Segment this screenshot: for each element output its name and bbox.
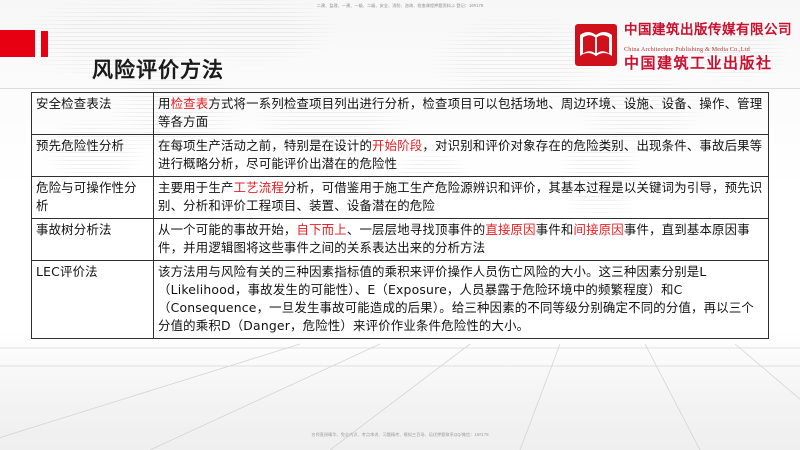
publisher-logo: 中国建筑出版传媒有限公司 China Architecture Publishi…	[574, 22, 792, 72]
highlighted-term: 检查表	[171, 96, 209, 111]
table-row: 安全检查表法用检查表方式将一系列检查项目列出进行分析，检查项目可以包括场地、周边…	[32, 93, 769, 135]
description-text: 从一个可能的事故开始，	[158, 222, 297, 237]
method-name-cell: 预先危险性分析	[32, 134, 154, 176]
red-block-large	[0, 30, 35, 57]
description-text: 方式将一系列检查项目列出进行分析，检查项目可以包括场地、周边环境、设施、设备、操…	[158, 96, 762, 129]
highlighted-term: 自下而上	[297, 222, 347, 237]
highlighted-term: 工艺流程	[234, 180, 284, 195]
table-body: 安全检查表法用检查表方式将一系列检查项目列出进行分析，检查项目可以包括场地、周边…	[32, 93, 769, 339]
method-description-cell: 该方法用与风险有关的三种因素指标值的乘积来评价操作人员伤亡风险的大小。这三种因素…	[154, 260, 769, 338]
book-emblem-icon	[574, 23, 618, 72]
method-description-cell: 用检查表方式将一系列检查项目列出进行分析，检查项目可以包括场地、周边环境、设施、…	[154, 93, 769, 135]
highlighted-term: 间接原因	[574, 222, 624, 237]
slide-canvas: 二建、监理、一建、一级、二级、安全、消防、咨询、检查课程押题资料ふ 登记：16#…	[0, 0, 800, 450]
method-description-cell: 从一个可能的事故开始，自下而上、一层层地寻找顶事件的直接原因事件和间接原因事件，…	[154, 218, 769, 260]
header-watermark-text: 二建、监理、一建、一级、二级、安全、消防、咨询、检查课程押题资料ふ 登记：16#…	[0, 3, 800, 9]
highlighted-term: 开始阶段	[372, 138, 422, 153]
description-text: 该方法用与风险有关的三种因素指标值的乘积来评价操作人员伤亡风险的大小。这三种因素…	[158, 264, 754, 333]
description-text: 、一层层地寻找顶事件的	[347, 222, 486, 237]
company-name-cn: 中国建筑出版传媒有限公司	[624, 22, 792, 38]
description-text: 主要用于生产	[158, 180, 234, 195]
press-name-cn: 中国建筑工业出版社	[624, 54, 773, 72]
company-name-en: China Architecture Publishing & Media Co…	[624, 46, 750, 53]
method-name-cell: LEC评价法	[32, 260, 154, 338]
highlighted-term: 直接原因	[485, 222, 535, 237]
method-description-cell: 在每项生产活动之前，特别是在设计的开始阶段，对识别和评价对象存在的危险类别、出现…	[154, 134, 769, 176]
description-text: 事件和	[536, 222, 574, 237]
red-block-bar	[41, 31, 48, 57]
table-row: 事故树分析法从一个可能的事故开始，自下而上、一层层地寻找顶事件的直接原因事件和间…	[32, 218, 769, 260]
logo-text-group: 中国建筑出版传媒有限公司 China Architecture Publishi…	[624, 22, 792, 72]
table-row: 预先危险性分析在每项生产活动之前，特别是在设计的开始阶段，对识别和评价对象存在的…	[32, 134, 769, 176]
table-row: LEC评价法该方法用与风险有关的三种因素指标值的乘积来评价操作人员伤亡风险的大小…	[32, 260, 769, 338]
risk-methods-table-wrap: 安全检查表法用检查表方式将一系列检查项目列出进行分析，检查项目可以包括场地、周边…	[31, 92, 769, 339]
risk-methods-table: 安全检查表法用检查表方式将一系列检查项目列出进行分析，检查项目可以包括场地、周边…	[31, 92, 769, 339]
table-row: 危险与可操作性分析主要用于生产工艺流程分析，可借鉴用于施工生产危险源辨识和评价，…	[32, 176, 769, 218]
description-text: 在每项生产活动之前，特别是在设计的	[158, 138, 372, 153]
method-name-cell: 危险与可操作性分析	[32, 176, 154, 218]
method-description-cell: 主要用于生产工艺流程分析，可借鉴用于施工生产危险源辨识和评价，其基本过程是以关键…	[154, 176, 769, 218]
method-name-cell: 安全检查表法	[32, 93, 154, 135]
description-text: 用	[158, 96, 171, 111]
page-title: 风险评价方法	[92, 54, 224, 84]
footer-watermark-text: 名师直授精华、免全内识、考点串讲、习题精考、模拟三百场、培优押题联系QQ/微信：…	[0, 432, 800, 438]
title-divider	[0, 88, 800, 89]
method-name-cell: 事故树分析法	[32, 218, 154, 260]
